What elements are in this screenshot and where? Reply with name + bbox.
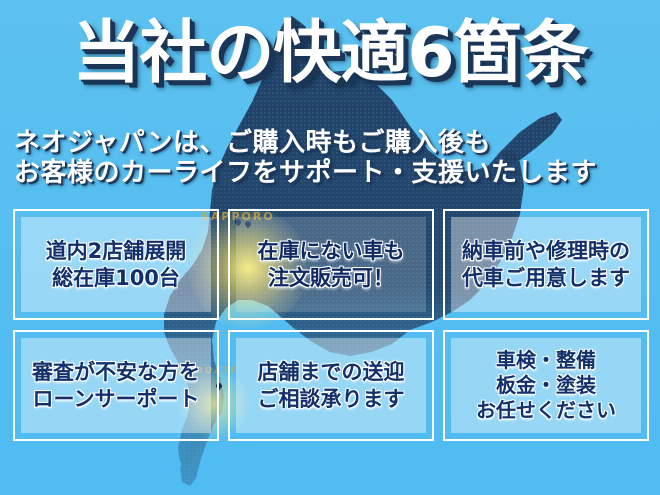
feature-box-pickup-service: 店舗までの送迎 ご相談承ります: [228, 330, 434, 441]
subheadline-line-1: ネオジャパンは、ご購入時もご購入後も: [14, 128, 646, 158]
feature-box-text: 車検・整備 板金・塗装 お任せください: [476, 348, 616, 423]
feature-grid: 道内2店舗展開 総在庫100台 在庫にない車も 注文販売可！ 納車前や修理時の …: [13, 209, 649, 441]
subheadline-line-2: お客様のカーライフをサポート・支援いたします: [14, 158, 646, 188]
feature-line: ご相談承ります: [258, 386, 405, 413]
feature-line: 代車ご用意します: [462, 265, 630, 292]
feature-box-text: 道内2店舗展開 総在庫100台: [46, 238, 187, 292]
feature-line: 納車前や修理時の: [462, 238, 630, 265]
feature-box-text: 店舗までの送迎 ご相談承ります: [258, 359, 405, 413]
feature-line: 車検・整備: [476, 348, 616, 373]
feature-box-text: 納車前や修理時の 代車ご用意します: [462, 238, 630, 292]
feature-line: 店舗までの送迎: [258, 359, 405, 386]
headline: 当社の快適6箇条: [0, 18, 660, 89]
feature-box-text: 在庫にない車も 注文販売可！: [258, 238, 405, 292]
feature-line: 審査が不安な方を: [32, 359, 200, 386]
advertisement-banner: SAPPORO HAKODATE 当社の快適6箇条 ネオジャパンは、ご購入時もご…: [0, 0, 660, 495]
feature-line: 総在庫100台: [46, 265, 187, 292]
feature-box-text: 審査が不安な方を ローンサーポート: [32, 359, 200, 413]
headline-text: 当社の快適6箇条: [72, 18, 587, 89]
feature-line: 板金・塗装: [476, 373, 616, 398]
feature-box-loaner-car: 納車前や修理時の 代車ご用意します: [443, 209, 649, 320]
feature-line: お任せください: [476, 398, 616, 423]
feature-box-stores: 道内2店舗展開 総在庫100台: [13, 209, 219, 320]
feature-line: 在庫にない車も: [258, 238, 405, 265]
feature-line: 道内2店舗展開: [46, 238, 187, 265]
feature-line: ローンサーポート: [32, 386, 200, 413]
feature-line: 注文販売可！: [258, 265, 405, 292]
feature-box-loan-support: 審査が不安な方を ローンサーポート: [13, 330, 219, 441]
feature-box-order-sale: 在庫にない車も 注文販売可！: [228, 209, 434, 320]
feature-box-inspection-bodywork: 車検・整備 板金・塗装 お任せください: [443, 330, 649, 441]
subheadline: ネオジャパンは、ご購入時もご購入後も お客様のカーライフをサポート・支援いたしま…: [14, 128, 646, 188]
